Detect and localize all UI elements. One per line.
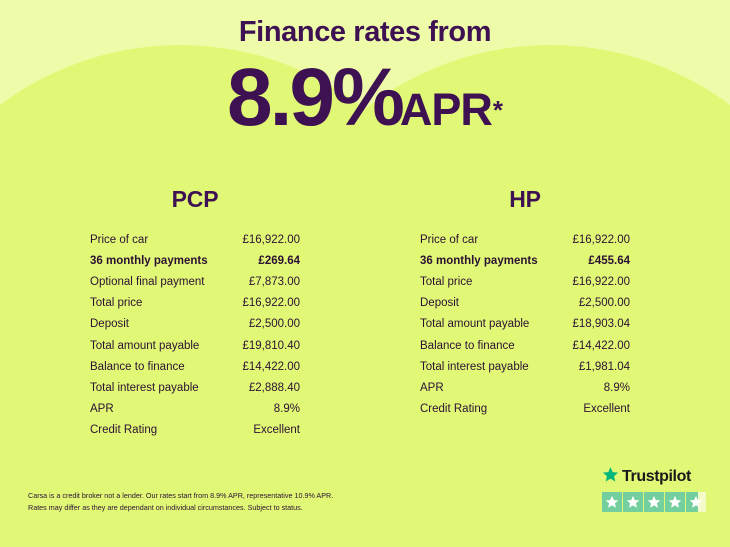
plan-card-pcp: PCP Price of car£16,922.0036 monthly pay… [45, 186, 345, 441]
rate-value: 8.9% [227, 52, 402, 143]
table-row: 36 monthly payments£455.64 [420, 250, 630, 271]
table-row: Total interest payable£2,888.40 [90, 377, 300, 398]
row-label: Price of car [90, 234, 148, 246]
row-value: £2,500.00 [579, 297, 630, 309]
table-row: 36 monthly payments£269.64 [90, 250, 300, 271]
disclaimer-line-2: Rates may differ as they are dependant o… [28, 502, 333, 514]
row-value: £2,888.40 [249, 382, 300, 394]
table-row: Total price£16,922.00 [90, 293, 300, 314]
table-row: APR8.9% [90, 399, 300, 420]
table-row: Price of car£16,922.00 [420, 229, 630, 250]
disclaimer-line-1: Carsa is a credit broker not a lender. O… [28, 490, 333, 502]
table-row: Balance to finance£14,422.00 [90, 356, 300, 377]
trustpilot-wordmark: Trustpilot [602, 466, 710, 488]
plan-rows-hp: Price of car£16,922.0036 monthly payment… [420, 229, 630, 420]
row-label: APR [90, 403, 114, 415]
row-value: £269.64 [258, 255, 300, 267]
table-row: Balance to finance£14,422.00 [420, 335, 630, 356]
trustpilot-name: Trustpilot [622, 469, 691, 485]
rate-display: 8.9%APR* [0, 57, 730, 139]
row-label: Total interest payable [90, 382, 199, 394]
row-value: £16,922.00 [242, 234, 300, 246]
trustpilot-star-icon [644, 492, 664, 512]
promo-banner: Finance rates from 8.9%APR* PCP Price of… [0, 0, 730, 547]
row-label: Balance to finance [90, 361, 185, 373]
row-value: £16,922.00 [242, 297, 300, 309]
table-row: Total amount payable£19,810.40 [90, 335, 300, 356]
trustpilot-star-icon [602, 466, 619, 488]
table-row: APR8.9% [420, 377, 630, 398]
rate-asterisk: * [493, 95, 503, 125]
page-title: Finance rates from [0, 18, 730, 47]
row-label: APR [420, 382, 444, 394]
row-value: £7,873.00 [249, 276, 300, 288]
row-value: £1,981.04 [579, 361, 630, 373]
row-label: 36 monthly payments [420, 255, 538, 267]
plan-title-pcp: PCP [45, 186, 345, 213]
row-label: Total amount payable [90, 340, 199, 352]
table-row: Total price£16,922.00 [420, 271, 630, 292]
row-label: Total amount payable [420, 318, 529, 330]
trustpilot-star-icon [686, 492, 706, 512]
row-label: Total price [90, 297, 142, 309]
row-value: 8.9% [604, 382, 630, 394]
table-row: Deposit£2,500.00 [90, 314, 300, 335]
plan-rows-pcp: Price of car£16,922.0036 monthly payment… [90, 229, 300, 441]
row-value: Excellent [253, 424, 300, 436]
row-value: £18,903.04 [572, 318, 630, 330]
table-row: Credit RatingExcellent [90, 420, 300, 441]
row-label: Optional final payment [90, 276, 204, 288]
row-value: Excellent [583, 403, 630, 415]
plan-title-hp: HP [375, 186, 675, 213]
row-label: Deposit [90, 318, 129, 330]
trustpilot-star-icon [602, 492, 622, 512]
header: Finance rates from 8.9%APR* [0, 18, 730, 139]
trustpilot-rating[interactable]: Trustpilot [602, 466, 710, 512]
row-label: Credit Rating [90, 424, 157, 436]
row-value: £16,922.00 [572, 276, 630, 288]
disclaimer: Carsa is a credit broker not a lender. O… [28, 490, 333, 514]
row-label: Balance to finance [420, 340, 515, 352]
row-label: Credit Rating [420, 403, 487, 415]
trustpilot-stars [602, 492, 710, 512]
row-label: Total price [420, 276, 472, 288]
row-value: £2,500.00 [249, 318, 300, 330]
row-label: 36 monthly payments [90, 255, 208, 267]
row-value: 8.9% [274, 403, 300, 415]
row-value: £14,422.00 [572, 340, 630, 352]
table-row: Price of car£16,922.00 [90, 229, 300, 250]
table-row: Total interest payable£1,981.04 [420, 356, 630, 377]
table-row: Deposit£2,500.00 [420, 293, 630, 314]
row-label: Deposit [420, 297, 459, 309]
table-row: Total amount payable£18,903.04 [420, 314, 630, 335]
row-value: £14,422.00 [242, 361, 300, 373]
rate-unit: APR [400, 84, 492, 135]
row-label: Total interest payable [420, 361, 529, 373]
table-row: Credit RatingExcellent [420, 399, 630, 420]
row-label: Price of car [420, 234, 478, 246]
plan-card-hp: HP Price of car£16,922.0036 monthly paym… [375, 186, 675, 420]
trustpilot-star-icon [623, 492, 643, 512]
row-value: £16,922.00 [572, 234, 630, 246]
table-row: Optional final payment£7,873.00 [90, 271, 300, 292]
trustpilot-star-icon [665, 492, 685, 512]
row-value: £455.64 [588, 255, 630, 267]
row-value: £19,810.40 [242, 340, 300, 352]
